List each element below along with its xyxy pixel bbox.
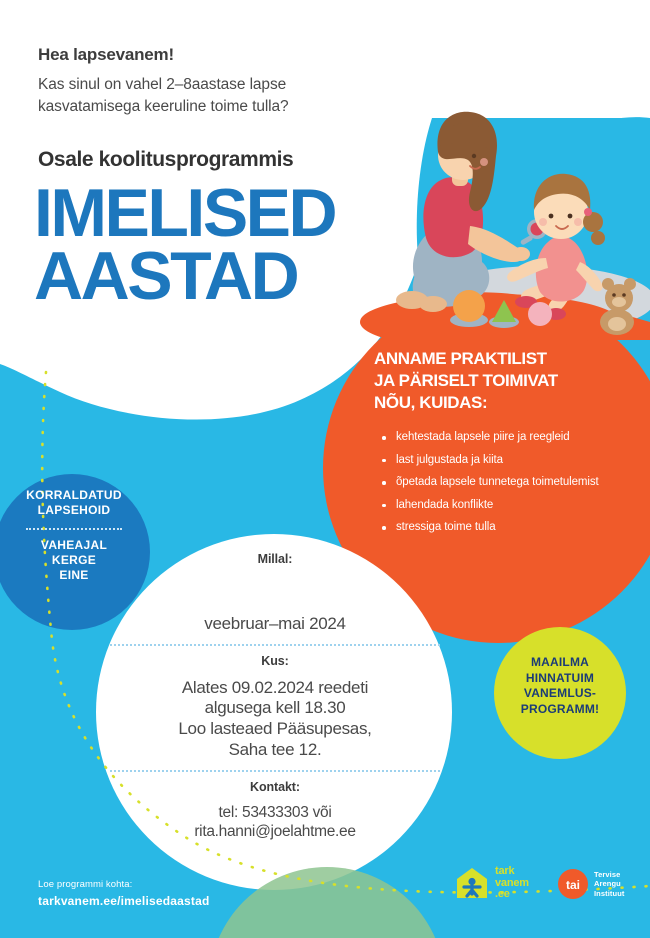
- kicker-text: Osale koolitusprogrammis: [38, 148, 293, 172]
- house-family-icon: [455, 866, 489, 900]
- logo-tai-text: Tervise Arengu Instituut: [594, 870, 624, 898]
- tai-circle-icon: tai: [557, 868, 589, 900]
- when-label: Millal:: [110, 552, 440, 566]
- list-item: last julgustada ja kiita: [378, 455, 628, 467]
- orange-heading-line-1: ANNAME PRAKTILIST: [374, 349, 547, 368]
- benefits-list: kehtestada lapsele piire ja reegleid las…: [378, 432, 628, 545]
- spacer: [110, 668, 440, 678]
- poster-root: Hea lapsevanem! Kas sinul on vahel 2–8aa…: [0, 0, 650, 938]
- title-line-2: AASTAD: [34, 245, 335, 308]
- logo-tai-line-1: Tervise: [594, 870, 620, 879]
- footer-url[interactable]: tarkvanem.ee/imelisedaastad: [38, 894, 210, 908]
- lead-line-2: kasvatamisega keeruline toime tulla?: [38, 98, 289, 115]
- list-item: stressiga toime tulla: [378, 522, 628, 534]
- logo-tai[interactable]: tai Tervise Arengu Instituut: [557, 868, 624, 900]
- list-item: lahendada konflikte: [378, 500, 628, 512]
- logo-tarkvanem-line-3: .ee: [495, 888, 510, 900]
- footer-note-label: Loe programmi kohta:: [38, 879, 132, 890]
- where-line-3: Loo lasteaed Pääsupesas,: [178, 719, 371, 738]
- logo-tarkvanem[interactable]: tark vanem .ee: [455, 866, 529, 901]
- childcare-badge-line-4: KERGE: [52, 553, 96, 567]
- childcare-badge-line-2: LAPSEHOID: [38, 503, 111, 517]
- award-badge: MAAILMA HINNATUIM VANEMLUS- PROGRAMM!: [494, 655, 626, 717]
- where-value: Alates 09.02.2024 reedeti algusega kell …: [110, 678, 440, 761]
- orange-panel-heading: ANNAME PRAKTILIST JA PÄRISELT TOIMIVAT N…: [374, 348, 624, 413]
- where-line-1: Alates 09.02.2024 reedeti: [182, 678, 368, 697]
- childcare-badge-line-3: VAHEAJAL: [41, 538, 107, 552]
- page-title: IMELISED AASTAD: [34, 182, 335, 307]
- contact-email[interactable]: rita.hanni@joelahtme.ee: [194, 823, 355, 840]
- list-item: kehtestada lapsele piire ja reegleid: [378, 432, 628, 444]
- tai-mark-text: tai: [566, 878, 580, 892]
- where-line-4: Saha tee 12.: [229, 740, 322, 759]
- childcare-badge-line-1: KORRALDATUD: [26, 488, 122, 502]
- award-badge-line-2: HINNATUIM: [526, 671, 594, 685]
- logo-tarkvanem-text: tark vanem .ee: [495, 866, 529, 901]
- contact-value: tel: 53433303 või rita.hanni@joelahtme.e…: [110, 804, 440, 842]
- footer-note: Loe programmi kohta: tarkvanem.ee/imelis…: [38, 878, 210, 911]
- contact-label: Kontakt:: [110, 780, 440, 794]
- logo-tarkvanem-line-2: vanem: [495, 877, 529, 889]
- info-divider-1: [110, 644, 440, 646]
- lead-paragraph: Kas sinul on vahel 2–8aastase lapse kasv…: [38, 74, 368, 119]
- list-item: õpetada lapsele tunnetega toimetulemist: [378, 477, 628, 489]
- where-label: Kus:: [110, 654, 440, 668]
- contact-phone[interactable]: tel: 53433303 või: [219, 804, 332, 821]
- when-value: veebruar–mai 2024: [110, 614, 440, 635]
- orange-heading-line-2: JA PÄRISELT TOIMIVAT: [374, 371, 558, 390]
- salutation-text: Hea lapsevanem!: [38, 45, 174, 65]
- where-line-2: algusega kell 18.30: [205, 698, 346, 717]
- spacer: [110, 794, 440, 804]
- childcare-badge-line-5: EINE: [59, 568, 88, 582]
- spacer: [110, 566, 440, 614]
- orange-heading-line-3: NÕU, KUIDAS:: [374, 393, 487, 412]
- award-badge-line-1: MAAILMA: [531, 655, 589, 669]
- info-divider-2: [110, 770, 440, 772]
- badge-divider: [26, 528, 122, 530]
- logo-tai-line-2: Arengu: [594, 879, 621, 888]
- award-badge-line-3: VANEMLUS-: [524, 686, 596, 700]
- lead-line-1: Kas sinul on vahel 2–8aastase lapse: [38, 76, 286, 93]
- logo-tai-line-3: Instituut: [594, 889, 624, 898]
- info-circle-content: Millal: veebruar–mai 2024 Kus: Alates 09…: [110, 552, 440, 841]
- logo-tarkvanem-line-1: tark: [495, 865, 514, 877]
- award-badge-line-4: PROGRAMM!: [521, 702, 599, 716]
